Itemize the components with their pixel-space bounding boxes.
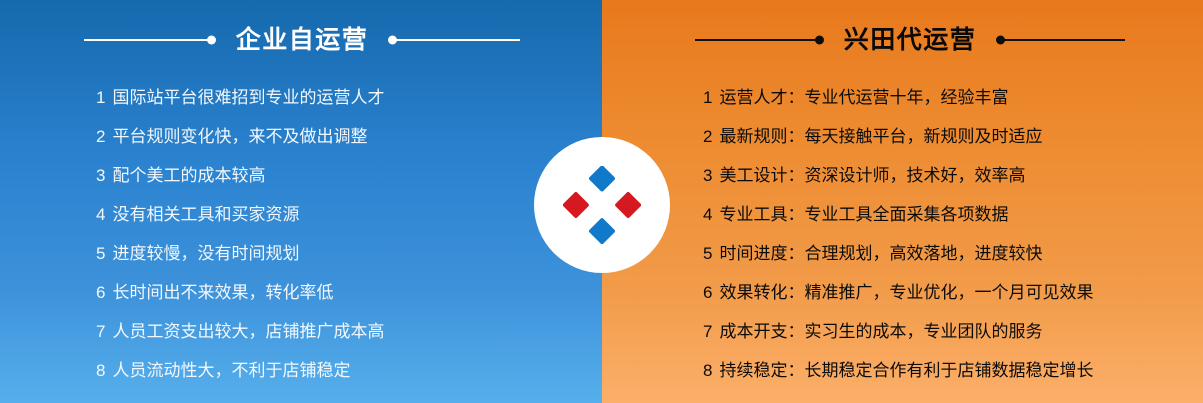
- header-dot-icon: [207, 36, 216, 45]
- list-item: 6 效果转化：精准推广，专业优化，一个月可见效果: [703, 273, 1173, 312]
- list-item: 1 运营人才：专业代运营十年，经验丰富: [703, 78, 1173, 117]
- list-item-text: 进度较慢，没有时间规划: [112, 234, 299, 273]
- list-item: 2 平台规则变化快，来不及做出调整: [96, 117, 566, 156]
- list-item: 6 长时间出不来效果，转化率低: [96, 273, 566, 312]
- list-item-text: 成本开支：实习生的成本，专业团队的服务: [719, 312, 1042, 351]
- diamond-top: [588, 166, 616, 192]
- list-item-number: 6: [703, 273, 712, 312]
- diamond-right: [614, 191, 641, 219]
- list-item: 4 没有相关工具和买家资源: [96, 195, 566, 234]
- list-item-text: 最新规则：每天接触平台，新规则及时适应: [719, 117, 1042, 156]
- list-item: 7 人员工资支出较大，店铺推广成本高: [96, 312, 566, 351]
- list-item-number: 6: [96, 273, 105, 312]
- list-item: 5 时间进度：合理规划，高效落地，进度较快: [703, 234, 1173, 273]
- list-item: 1 国际站平台很难招到专业的运营人才: [96, 78, 566, 117]
- list-item-text: 效果转化：精准推广，专业优化，一个月可见效果: [719, 273, 1093, 312]
- list-item-text: 国际站平台很难招到专业的运营人才: [112, 78, 384, 117]
- header-rule-right: [390, 39, 520, 41]
- left-panel-header: 企业自运营: [84, 20, 520, 60]
- list-item-text: 专业工具：专业工具全面采集各项数据: [719, 195, 1008, 234]
- list-item-text: 配个美工的成本较高: [112, 156, 265, 195]
- left-panel-list: 1 国际站平台很难招到专业的运营人才 2 平台规则变化快，来不及做出调整 3 配…: [96, 78, 566, 390]
- list-item-number: 3: [96, 156, 105, 195]
- list-item-text: 没有相关工具和买家资源: [112, 195, 299, 234]
- list-item: 3 配个美工的成本较高: [96, 156, 566, 195]
- header-dot-icon: [388, 36, 397, 45]
- right-panel-header: 兴田代运营: [695, 20, 1125, 60]
- list-item-text: 美工设计：资深设计师，技术好，效率高: [719, 156, 1025, 195]
- list-item-number: 2: [703, 117, 712, 156]
- list-item: 2 最新规则：每天接触平台，新规则及时适应: [703, 117, 1173, 156]
- right-panel-list: 1 运营人才：专业代运营十年，经验丰富 2 最新规则：每天接触平台，新规则及时适…: [703, 78, 1173, 390]
- four-diamond-logo-icon: [563, 166, 641, 244]
- header-rule-left: [84, 39, 214, 41]
- header-rule-left: [695, 39, 822, 41]
- list-item-text: 运营人才：专业代运营十年，经验丰富: [719, 78, 1008, 117]
- list-item-number: 3: [703, 156, 712, 195]
- list-item-number: 4: [703, 195, 712, 234]
- comparison-banner: 企业自运营 兴田代运营 1 国际站平台很难招到专业的运营人才 2 平台规则变化快…: [0, 0, 1203, 403]
- list-item-text: 人员流动性大，不利于店铺稳定: [112, 351, 350, 390]
- list-item: 5 进度较慢，没有时间规划: [96, 234, 566, 273]
- center-logo-circle: [534, 137, 670, 273]
- list-item-number: 4: [96, 195, 105, 234]
- list-item-number: 1: [703, 78, 712, 117]
- list-item-number: 2: [96, 117, 105, 156]
- header-dot-icon: [996, 36, 1005, 45]
- list-item-text: 平台规则变化快，来不及做出调整: [112, 117, 367, 156]
- right-panel-title: 兴田代运营: [822, 28, 999, 53]
- list-item-number: 8: [703, 351, 712, 390]
- header-rule-right: [998, 39, 1125, 41]
- list-item-number: 1: [96, 78, 105, 117]
- list-item: 7 成本开支：实习生的成本，专业团队的服务: [703, 312, 1173, 351]
- diamond-bottom: [588, 217, 616, 244]
- header-dot-icon: [815, 36, 824, 45]
- list-item-number: 7: [96, 312, 105, 351]
- list-item-number: 8: [96, 351, 105, 390]
- list-item: 3 美工设计：资深设计师，技术好，效率高: [703, 156, 1173, 195]
- list-item-text: 长时间出不来效果，转化率低: [112, 273, 333, 312]
- list-item-number: 7: [703, 312, 712, 351]
- list-item-number: 5: [96, 234, 105, 273]
- left-panel-title: 企业自运营: [214, 28, 391, 53]
- list-item-number: 5: [703, 234, 712, 273]
- diamond-left: [563, 191, 590, 219]
- list-item-text: 持续稳定：长期稳定合作有利于店铺数据稳定增长: [719, 351, 1093, 390]
- list-item-text: 时间进度：合理规划，高效落地，进度较快: [719, 234, 1042, 273]
- list-item: 8 人员流动性大，不利于店铺稳定: [96, 351, 566, 390]
- list-item: 4 专业工具：专业工具全面采集各项数据: [703, 195, 1173, 234]
- list-item-text: 人员工资支出较大，店铺推广成本高: [112, 312, 384, 351]
- list-item: 8 持续稳定：长期稳定合作有利于店铺数据稳定增长: [703, 351, 1173, 390]
